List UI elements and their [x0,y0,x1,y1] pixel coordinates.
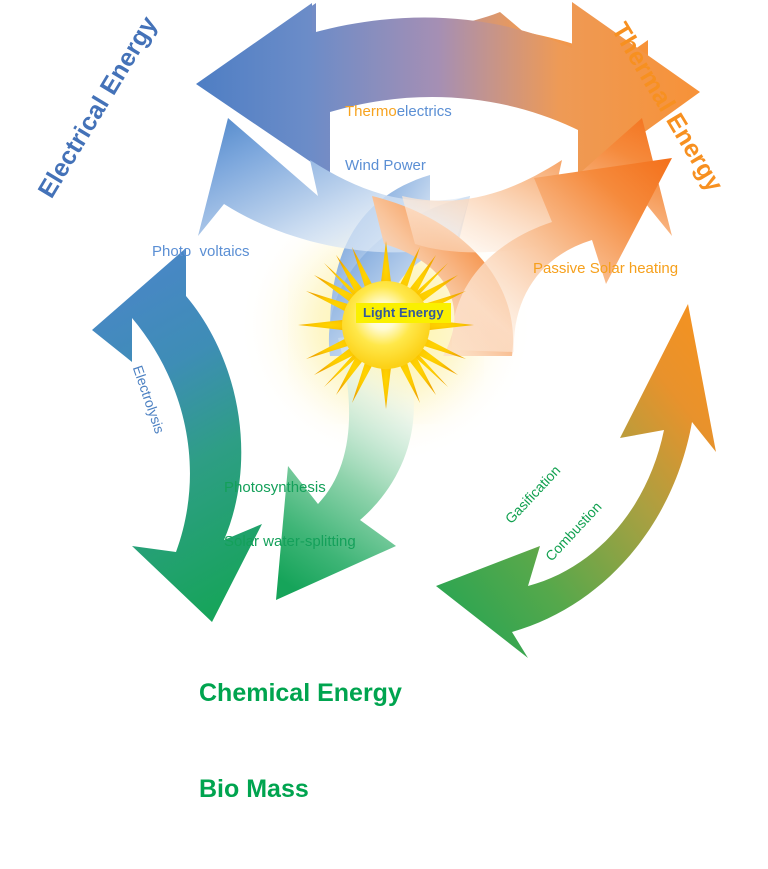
thermoelectrics-cold-part: electrics [397,103,452,120]
photosynthesis-line1: Photosynthesis [224,479,356,497]
thermoelectrics-line1: Thermoelectrics [345,103,452,121]
thermoelectrics-hot-part: Thermo [345,103,397,120]
process-label-photovoltaics: Photo voltaics [152,243,250,261]
chemical-energy-line1: Chemical Energy [199,677,402,709]
chemical-energy-line2: Bio Mass [199,773,402,805]
thermoelectrics-line2: Wind Power [345,157,452,175]
process-label-photosynthesis: Photosynthesis Solar water-splitting [224,442,356,588]
gasification-line2: Combustion [541,498,605,565]
center-label-light-energy: Light Energy [356,303,451,323]
node-label-chemical-energy: Chemical Energy Bio Mass [199,613,402,869]
gasification-line1: Gasification [501,461,565,528]
energy-conversion-diagram: Electrical Energy Thermal Energy Chemica… [0,0,768,697]
photosynthesis-line2: Solar water-splitting [224,533,356,551]
process-label-thermoelectrics: Thermoelectrics Wind Power [345,66,452,212]
process-label-passive-solar-heating: Passive Solar heating [533,260,678,278]
